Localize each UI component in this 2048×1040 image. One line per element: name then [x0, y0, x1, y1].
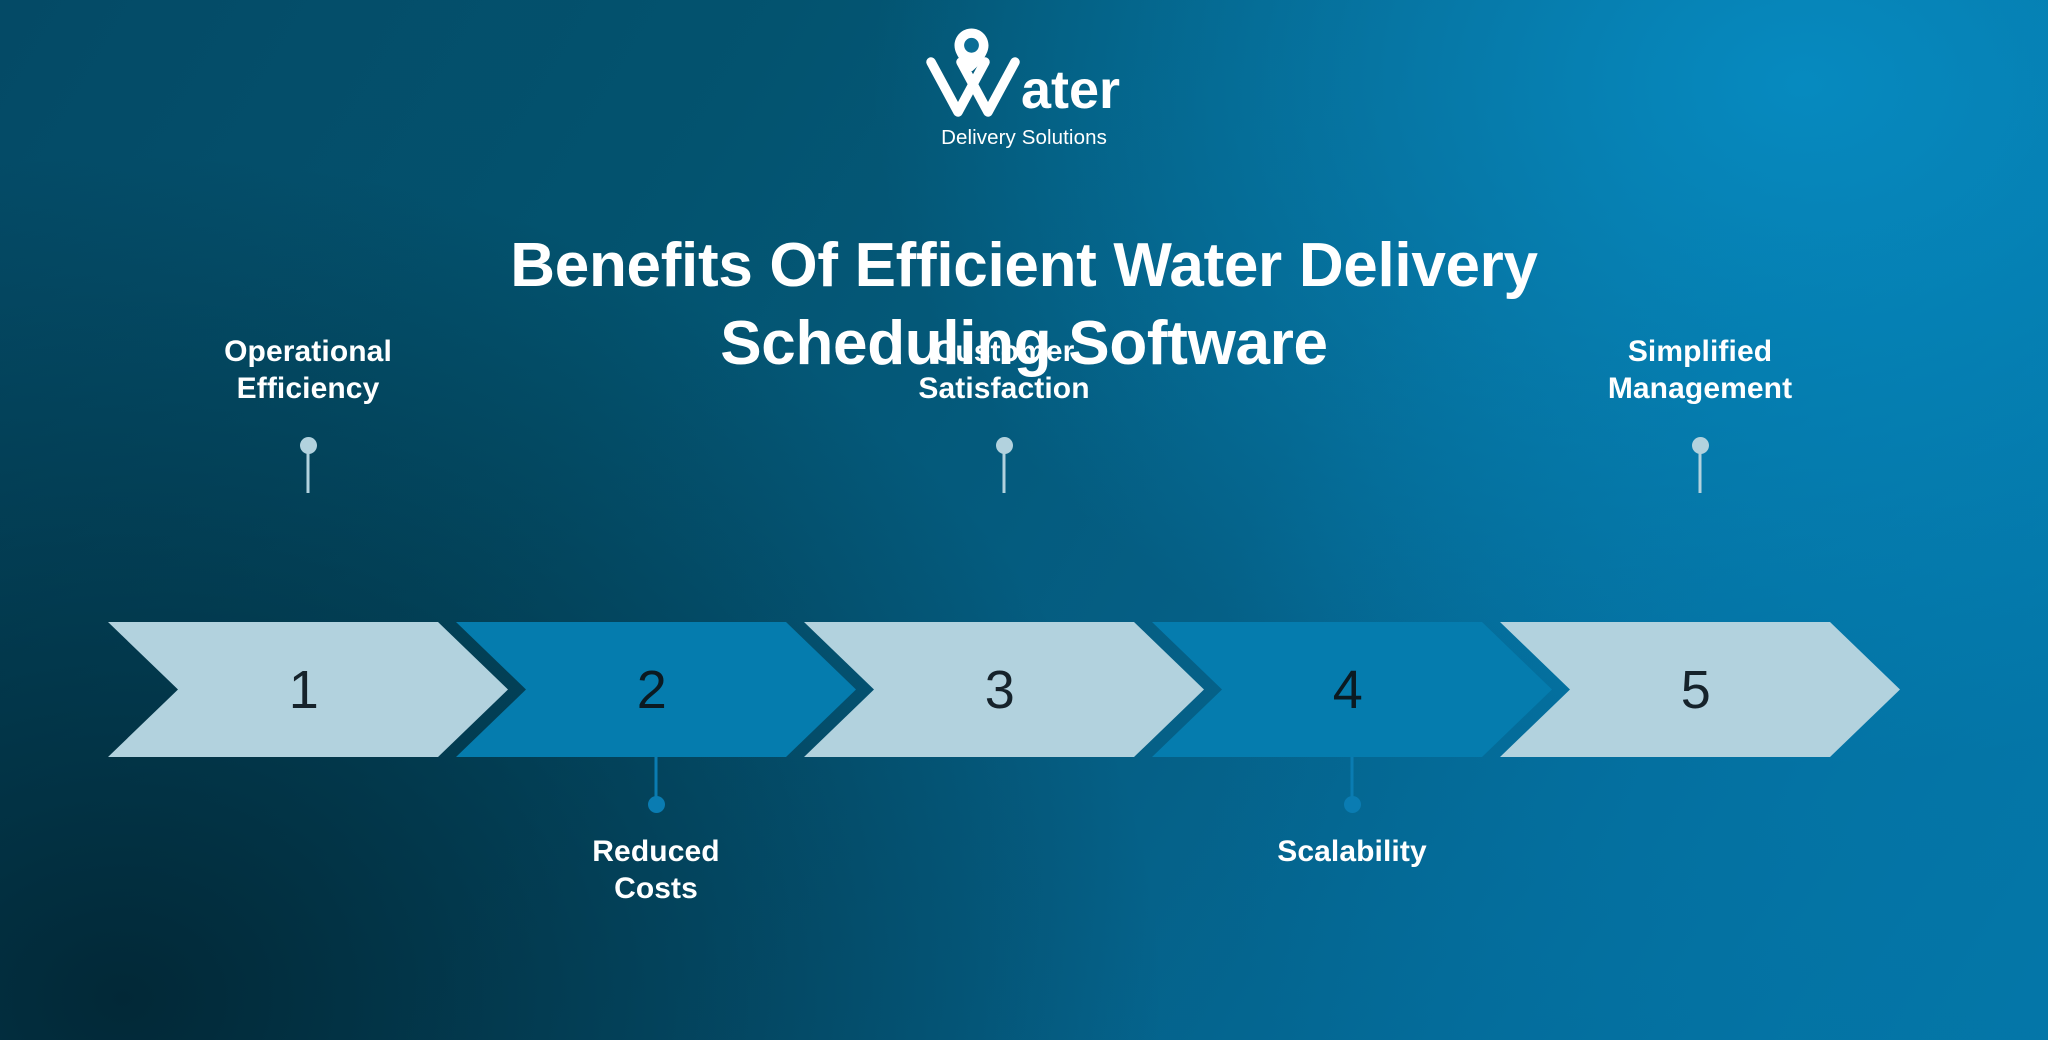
connector-dot [648, 796, 665, 813]
step-3-label-line-1: Customer [934, 335, 1075, 368]
step-2-chevron[interactable]: 2 [456, 622, 856, 757]
step-5-label-line-2: Management [1608, 372, 1792, 405]
step-4[interactable]: 4 Scalability [1152, 430, 1552, 960]
step-4-label: Scalability [1152, 834, 1552, 871]
brand-logo: ater Delivery Solutions [894, 26, 1154, 150]
step-1-label: Operational Efficiency [108, 334, 508, 407]
step-3-connector [1003, 445, 1006, 493]
step-3-number: 3 [985, 663, 1016, 717]
steps-row: Operational Efficiency 1 2 Reduced Cos [0, 430, 2048, 960]
step-2[interactable]: 2 Reduced Costs [456, 430, 856, 960]
step-5-chevron[interactable]: 5 [1500, 622, 1900, 757]
connector-dot [996, 437, 1013, 454]
step-4-number: 4 [1333, 663, 1364, 717]
step-2-label: Reduced Costs [456, 834, 856, 907]
step-1-label-line-2: Efficiency [237, 372, 380, 405]
step-3-label: Customer Satisfaction [804, 334, 1204, 407]
step-2-label-line-2: Costs [614, 872, 698, 905]
logo-tagline: Delivery Solutions [941, 126, 1107, 150]
step-5-label: Simplified Management [1500, 334, 1900, 407]
step-1[interactable]: Operational Efficiency 1 [108, 430, 508, 960]
map-pin-w-logo-icon: ater [909, 26, 1139, 130]
step-1-connector [307, 445, 310, 493]
step-4-label-line-1: Scalability [1277, 835, 1427, 868]
step-3-chevron[interactable]: 3 [804, 622, 1204, 757]
infographic-canvas: ater Delivery Solutions Benefits Of Effi… [0, 0, 2048, 1040]
page-title-line-1: Benefits Of Efficient Water Delivery [349, 235, 1699, 297]
connector-dot [1692, 437, 1709, 454]
step-2-connector [655, 757, 658, 805]
step-5-connector [1699, 445, 1702, 493]
step-3-label-line-2: Satisfaction [918, 372, 1089, 405]
step-2-label-line-1: Reduced [592, 835, 719, 868]
connector-dot [1344, 796, 1361, 813]
step-4-connector [1351, 757, 1354, 805]
svg-text:ater: ater [1021, 60, 1120, 120]
step-1-chevron[interactable]: 1 [108, 622, 508, 757]
step-1-number: 1 [289, 663, 320, 717]
step-5[interactable]: Simplified Management 5 [1500, 430, 1900, 960]
step-3[interactable]: Customer Satisfaction 3 [804, 430, 1204, 960]
step-5-label-line-1: Simplified [1628, 335, 1772, 368]
step-2-number: 2 [637, 663, 668, 717]
connector-dot [300, 437, 317, 454]
step-1-label-line-1: Operational [224, 335, 392, 368]
step-4-chevron[interactable]: 4 [1152, 622, 1552, 757]
step-5-number: 5 [1681, 663, 1712, 717]
